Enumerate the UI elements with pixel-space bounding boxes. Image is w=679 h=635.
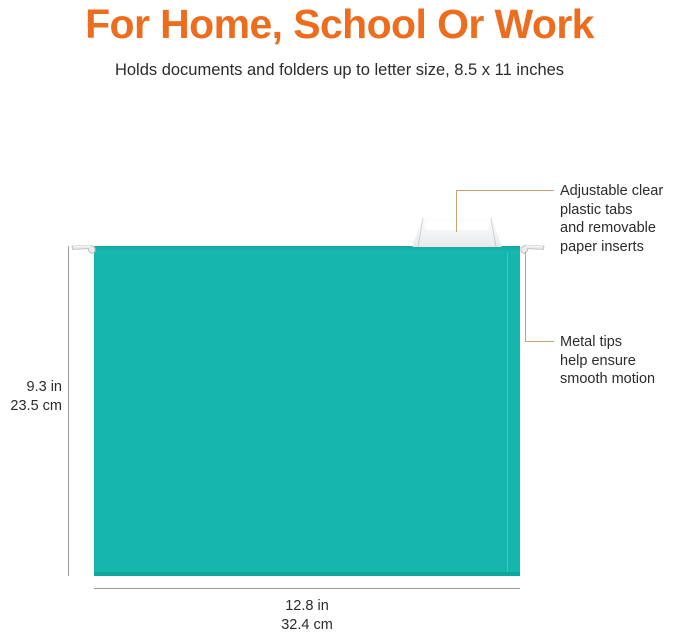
callout-adjustable-tabs: Adjustable clear plastic tabs and remova… — [560, 182, 679, 256]
folder-bottom-edge — [94, 572, 520, 576]
folder-body — [94, 246, 520, 576]
folder-top-fold — [94, 246, 520, 253]
dimension-line-width — [94, 588, 520, 589]
leader-line-tabs-horizontal — [456, 190, 554, 191]
leader-line-metal-vertical — [525, 252, 526, 342]
dimension-label-height: 9.3 in 23.5 cm — [0, 378, 62, 416]
product-illustration — [0, 0, 679, 634]
dimension-label-width: 12.8 in 32.4 cm — [94, 597, 520, 635]
metal-tip-left-icon — [71, 243, 97, 256]
folder-crease — [507, 253, 508, 576]
dimension-line-height — [68, 246, 69, 576]
callout-metal-tips: Metal tips help ensure smooth motion — [560, 333, 679, 389]
leader-line-metal-horizontal — [525, 341, 554, 342]
leader-line-tabs-vertical — [456, 190, 457, 232]
metal-tip-right-icon — [519, 243, 545, 256]
